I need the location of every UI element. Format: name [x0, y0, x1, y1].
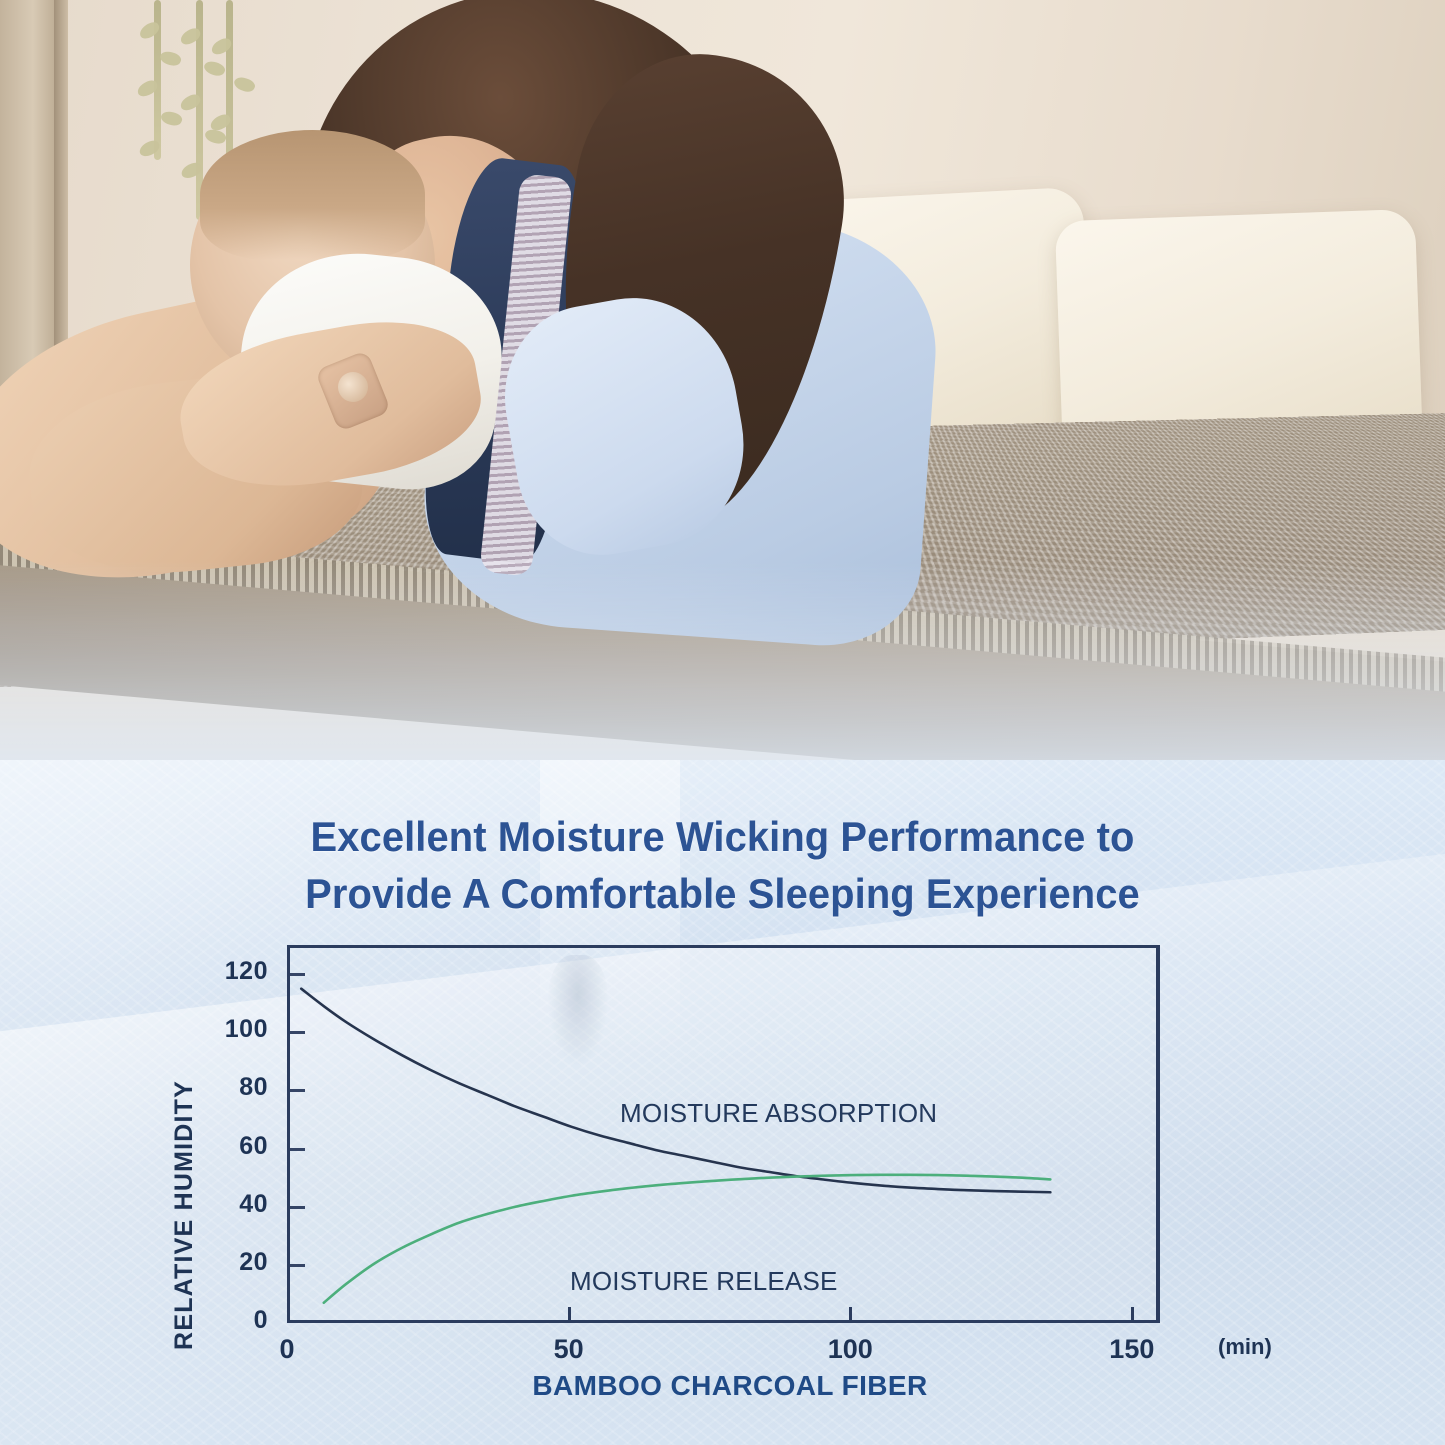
x-axis-unit-label: (min) [1218, 1334, 1272, 1360]
x-tick-label: 0 [242, 1334, 332, 1365]
x-tick-mark [849, 1307, 852, 1323]
y-tick-label: 20 [198, 1248, 268, 1277]
baby-hair [200, 130, 425, 260]
chart-panel: Excellent Moisture Wicking Performance t… [0, 760, 1445, 1445]
y-tick-label: 80 [198, 1073, 268, 1102]
page-title: Excellent Moisture Wicking Performance t… [0, 808, 1445, 922]
photo-fade-overlay [0, 560, 1445, 790]
x-tick-mark [1131, 1307, 1134, 1323]
y-tick-label: 100 [198, 1015, 268, 1044]
product-infographic: Excellent Moisture Wicking Performance t… [0, 0, 1445, 1445]
x-tick-label: 150 [1087, 1334, 1177, 1365]
y-axis-title: RELATIVE HUMIDITY [170, 1080, 199, 1350]
series-label-release: MOISTURE RELEASE [570, 1266, 838, 1297]
series-label-absorption: MOISTURE ABSORPTION [620, 1098, 937, 1129]
lifestyle-photo [0, 0, 1445, 790]
x-tick-label: 100 [805, 1334, 895, 1365]
curve-moisture-absorption [301, 989, 1050, 1193]
x-tick-label: 50 [524, 1334, 614, 1365]
x-tick-mark [568, 1307, 571, 1323]
y-tick-label: 40 [198, 1190, 268, 1219]
chart-plot-area: MOISTURE ABSORPTION MOISTURE RELEASE [287, 945, 1160, 1323]
x-axis-title: BAMBOO CHARCOAL FIBER [160, 1370, 1300, 1402]
humidity-chart: RELATIVE HUMIDITY 020406080100120 MOISTU… [160, 930, 1300, 1400]
title-line-1: Excellent Moisture Wicking Performance t… [36, 808, 1409, 865]
y-tick-label: 0 [198, 1306, 268, 1335]
y-tick-label: 60 [198, 1132, 268, 1161]
title-line-2: Provide A Comfortable Sleeping Experienc… [36, 865, 1409, 922]
y-tick-label: 120 [198, 957, 268, 986]
